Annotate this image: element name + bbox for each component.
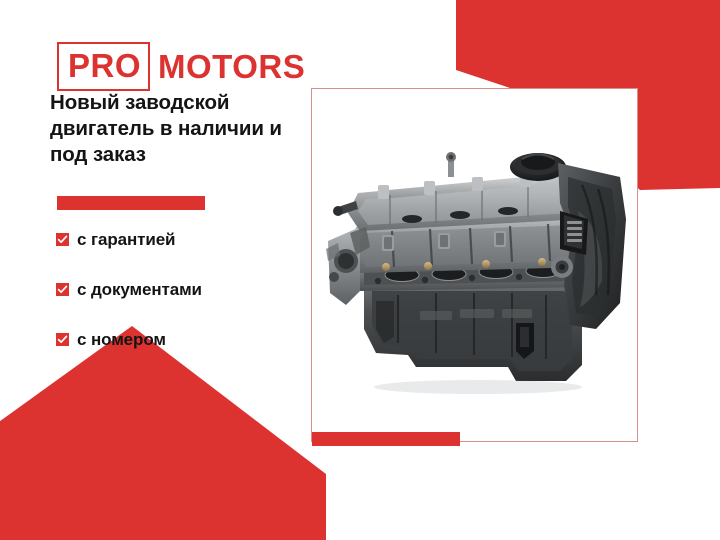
brand-logo-pro: PRO <box>57 42 150 91</box>
ad-poster: PRO MOTORS Новый заводской двигатель в н… <box>0 0 720 540</box>
avito-watermark: Avito <box>623 497 706 524</box>
frame-accent-bar <box>312 432 460 446</box>
checkbox-checked-icon <box>56 283 69 296</box>
avito-dots-icon <box>623 497 645 524</box>
feature-label: с номером <box>77 331 166 348</box>
brand-logo: PRO MOTORS <box>57 42 305 91</box>
feature-list: с гарантией с документами с номером <box>56 228 306 378</box>
checkbox-checked-icon <box>56 333 69 346</box>
product-photo-stage <box>312 89 637 441</box>
list-item: с номером <box>56 328 306 350</box>
avito-watermark-label: Avito <box>649 499 706 523</box>
engine-photo <box>320 115 630 415</box>
headline-text: Новый заводской двигатель в наличии и по… <box>50 90 306 169</box>
feature-label: с гарантией <box>77 231 175 248</box>
red-divider-bar <box>57 196 205 210</box>
checkbox-checked-icon <box>56 233 69 246</box>
list-item: с документами <box>56 278 306 300</box>
brand-logo-motors: MOTORS <box>150 50 305 83</box>
list-item: с гарантией <box>56 228 306 250</box>
feature-label: с документами <box>77 281 202 298</box>
